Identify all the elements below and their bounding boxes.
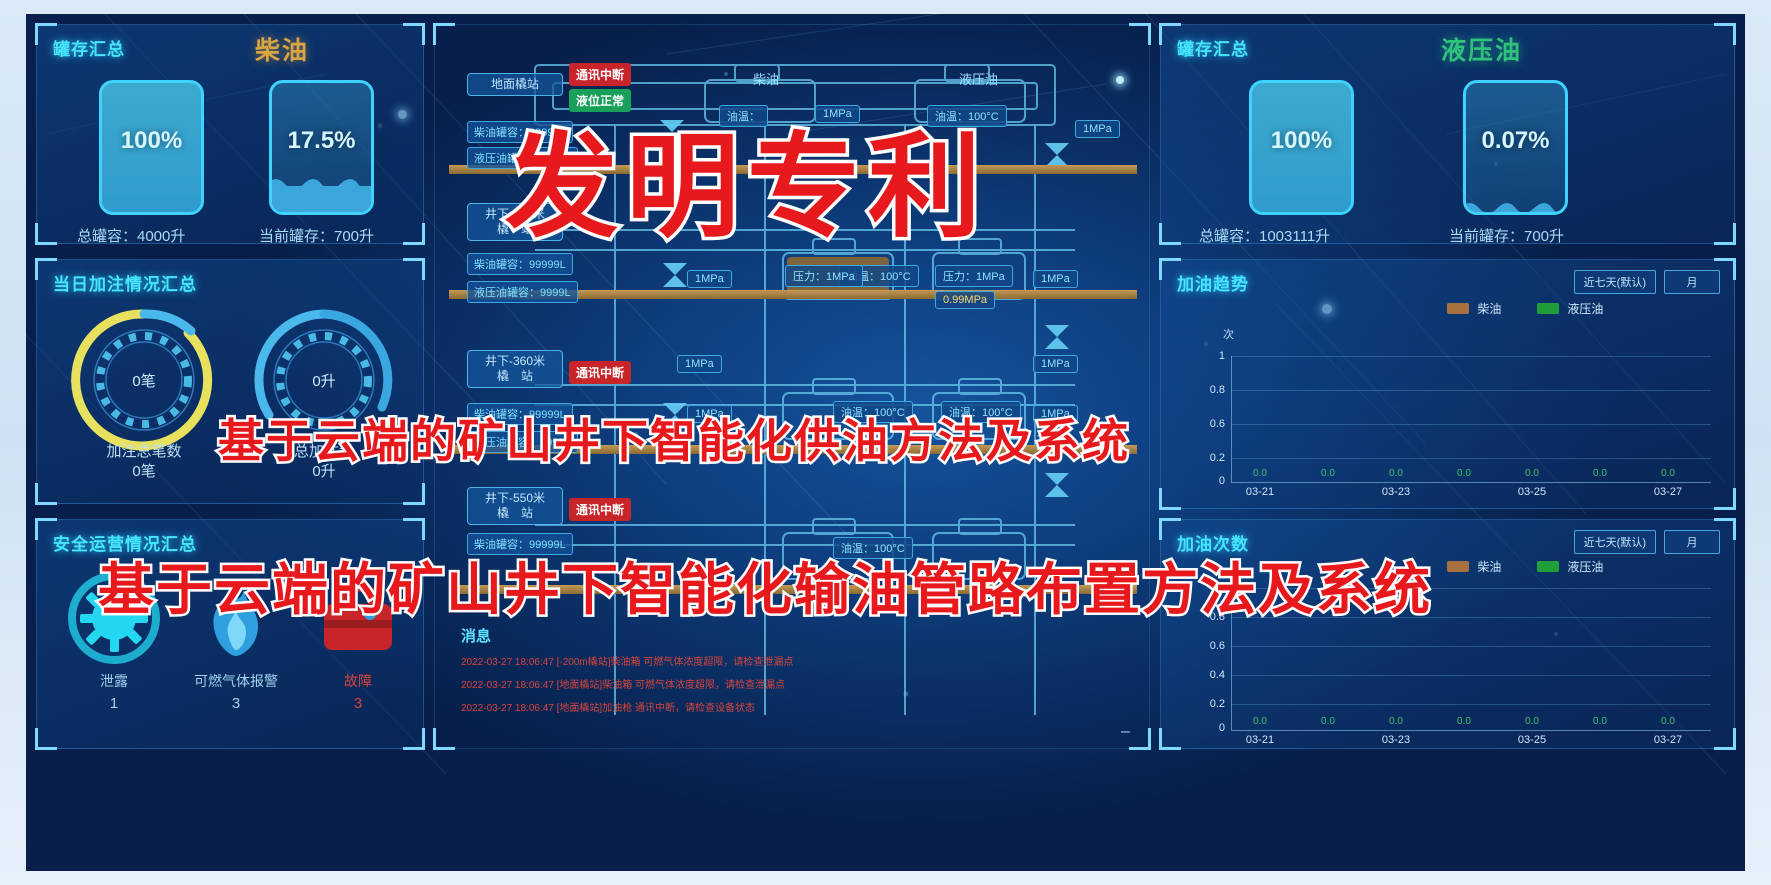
pressure-tag-5: 压力：1MPa bbox=[935, 265, 1013, 287]
y-tick: 0.4 bbox=[1199, 669, 1225, 681]
legend-diesel[interactable]: 柴油 bbox=[1447, 558, 1501, 575]
point-label: 0.0 bbox=[1313, 716, 1343, 727]
legend-diesel[interactable]: 柴油 bbox=[1447, 300, 1501, 317]
point-label: 0.0 bbox=[1449, 716, 1479, 727]
grid-line bbox=[1231, 424, 1711, 425]
tank-total-diesel: 100% bbox=[99, 80, 204, 215]
page-frame: 罐存汇总 柴油 100% 总罐容：4000升 17.5% 当前罐存：700升 当… bbox=[0, 0, 1771, 885]
panel-title: 加油趋势 bbox=[1177, 270, 1249, 295]
x-axis-line bbox=[1231, 482, 1711, 483]
corner-mark bbox=[1714, 223, 1736, 245]
grid-line bbox=[1231, 458, 1711, 459]
pressure-tag-7: 1MPa bbox=[677, 355, 722, 373]
safety-item-count: 3 bbox=[171, 695, 301, 712]
legend-label: 柴油 bbox=[1477, 560, 1501, 574]
x-tick: 03-27 bbox=[1646, 486, 1690, 498]
product-name-hydraulic: 液压油 bbox=[1441, 31, 1522, 67]
corner-mark bbox=[1714, 23, 1736, 45]
tank-current-diesel: 17.5% bbox=[269, 80, 374, 215]
point-label: 0.0 bbox=[1517, 716, 1547, 727]
range-button-month[interactable]: 月 bbox=[1664, 270, 1720, 294]
legend-swatch-diesel bbox=[1447, 303, 1469, 314]
gauge-label-title: 加注总笔数 bbox=[54, 442, 234, 462]
corner-mark bbox=[1714, 488, 1736, 510]
grid-line bbox=[1231, 675, 1711, 676]
point-label: 0.0 bbox=[1585, 468, 1615, 479]
station-name: 井下-550米 bbox=[485, 491, 545, 505]
x-tick: 03-25 bbox=[1510, 486, 1554, 498]
grid-line bbox=[1231, 390, 1711, 391]
range-button-month[interactable]: 月 bbox=[1664, 530, 1720, 554]
pressure-tag-4: 压力：1MPa bbox=[785, 265, 863, 287]
legend-label: 液压油 bbox=[1567, 560, 1603, 574]
point-label: 0.0 bbox=[1381, 468, 1411, 479]
x-tick: 03-27 bbox=[1646, 734, 1690, 746]
grid-line bbox=[1231, 646, 1711, 647]
corner-mark bbox=[403, 258, 425, 280]
corner-mark bbox=[35, 223, 57, 245]
x-tick: 03-21 bbox=[1238, 734, 1282, 746]
range-button-seven-days[interactable]: 近七天(默认) bbox=[1574, 530, 1656, 554]
tank-total-hydraulic: 100% bbox=[1249, 80, 1354, 215]
y-tick: 1 bbox=[1199, 350, 1225, 362]
label-diesel: 柴油 bbox=[747, 67, 785, 90]
label-hydraulic: 液压油 bbox=[953, 67, 1004, 90]
tank-percent: 100% bbox=[102, 127, 201, 155]
tank-percent: 100% bbox=[1252, 127, 1351, 155]
pressure-tag-099: 0.99MPa bbox=[935, 291, 995, 309]
y-tick: 0 bbox=[1199, 475, 1225, 487]
legend-hydraulic[interactable]: 液压油 bbox=[1537, 300, 1603, 317]
panel-title: 罐存汇总 bbox=[53, 35, 125, 60]
station-sub: 橇 站 bbox=[497, 369, 533, 383]
point-label: 0.0 bbox=[1381, 716, 1411, 727]
station-550m-name[interactable]: 井下-550米 橇 站 bbox=[467, 487, 563, 525]
tank-current-caption: 当前罐存：700升 bbox=[1449, 225, 1564, 246]
legend-swatch-hydraulic bbox=[1537, 303, 1559, 314]
tank-wave-icon bbox=[1463, 196, 1568, 212]
y-axis-line bbox=[1231, 356, 1232, 482]
panel-title: 当日加注情况汇总 bbox=[53, 270, 197, 295]
y-tick: 0.6 bbox=[1199, 640, 1225, 652]
station-200m-hydraulic-capacity: 液压油罐容：9999L bbox=[467, 281, 578, 303]
pressure-tag-6: 1MPa bbox=[1033, 270, 1078, 288]
corner-mark bbox=[35, 483, 57, 505]
station-360m-status: 通讯中断 bbox=[569, 361, 631, 384]
message-row: 2022-03-27 18:06:47 [地面橇站]加油枪 通讯中断，请检查设备… bbox=[461, 699, 755, 714]
x-tick: 03-23 bbox=[1374, 734, 1418, 746]
corner-mark bbox=[403, 518, 425, 540]
station-ground-comm-status: 通讯中断 bbox=[569, 63, 631, 86]
corner-mark bbox=[403, 23, 425, 45]
x-tick: 03-25 bbox=[1510, 734, 1554, 746]
corner-mark bbox=[1159, 728, 1181, 750]
x-axis-line bbox=[1231, 730, 1711, 731]
station-360m-name[interactable]: 井下-360米 橇 站 bbox=[467, 350, 563, 388]
panel-title: 罐存汇总 bbox=[1177, 35, 1249, 60]
station-name: 井下-360米 bbox=[485, 354, 545, 368]
legend-hydraulic[interactable]: 液压油 bbox=[1537, 558, 1603, 575]
y-tick: 0.2 bbox=[1199, 698, 1225, 710]
safety-item-count: 3 bbox=[293, 695, 423, 712]
legend-swatch-hydraulic bbox=[1537, 561, 1559, 572]
station-sub: 橇 站 bbox=[497, 506, 533, 520]
corner-mark bbox=[403, 483, 425, 505]
pressure-tag-8: 1MPa bbox=[1033, 355, 1078, 373]
tank-total-caption: 总罐容：1003111升 bbox=[1199, 225, 1330, 246]
point-label: 0.0 bbox=[1245, 468, 1275, 479]
watermark-line-1: 基于云端的矿山井下智能化供油方法及系统 bbox=[218, 405, 1130, 471]
x-tick: 03-21 bbox=[1238, 486, 1282, 498]
watermark-line-2: 基于云端的矿山井下智能化输油管路布置方法及系统 bbox=[98, 545, 1432, 626]
corner-mark bbox=[1714, 728, 1736, 750]
grid-line bbox=[1231, 704, 1711, 705]
point-label: 0.0 bbox=[1517, 468, 1547, 479]
safety-item-label: 泄露 bbox=[49, 671, 179, 691]
point-label: 0.0 bbox=[1585, 716, 1615, 727]
y-axis-unit-label: 次 bbox=[1223, 326, 1234, 342]
tank-wave-icon bbox=[269, 174, 374, 190]
panel-right-tank-summary: 罐存汇总 液压油 100% 总罐容：1003111升 0.07% 当前罐存：70… bbox=[1160, 24, 1735, 244]
gauge-fill-count: 0笔 bbox=[69, 305, 219, 455]
tank-current-hydraulic: 0.07% bbox=[1463, 80, 1568, 215]
safety-item-label: 可燃气体报警 bbox=[171, 671, 301, 691]
message-row: 2022-03-27 18:06:47 [-200m橇站]柴油箱 可燃气体浓度超… bbox=[461, 653, 793, 668]
panel-left-tank-summary: 罐存汇总 柴油 100% 总罐容：4000升 17.5% 当前罐存：700升 bbox=[36, 24, 424, 244]
message-row: 2022-03-27 18:06:47 [地面橇站]柴油箱 可燃气体浓度超限，请… bbox=[461, 676, 785, 691]
point-label: 0.0 bbox=[1653, 468, 1683, 479]
station-ground-name[interactable]: 地面橇站 bbox=[467, 73, 563, 96]
point-label: 0.0 bbox=[1245, 716, 1275, 727]
tank-percent: 17.5% bbox=[272, 127, 371, 155]
corner-mark bbox=[403, 728, 425, 750]
tank-percent: 0.07% bbox=[1466, 127, 1565, 155]
gauge-fill-count-label: 加注总笔数 0笔 bbox=[54, 442, 234, 483]
collapse-icon[interactable]: – bbox=[1121, 723, 1130, 741]
panel-refuel-trend-chart: 加油趋势 近七天(默认) 月 柴油 液压油 次 1 0.8 0.6 0.2 0 … bbox=[1160, 259, 1735, 509]
corner-mark bbox=[403, 223, 425, 245]
range-button-seven-days[interactable]: 近七天(默认) bbox=[1574, 270, 1656, 294]
pressure-tag-3: 1MPa bbox=[687, 270, 732, 288]
pressure-tag-2: 1MPa bbox=[1075, 120, 1120, 138]
gauge-value: 0笔 bbox=[69, 305, 219, 455]
point-label: 0.0 bbox=[1653, 716, 1683, 727]
x-tick: 03-23 bbox=[1374, 486, 1418, 498]
safety-item-label: 故障 bbox=[293, 671, 423, 691]
legend-label: 柴油 bbox=[1477, 302, 1501, 316]
y-tick: 0.6 bbox=[1199, 418, 1225, 430]
safety-item-count: 1 bbox=[49, 695, 179, 712]
tank-total-caption: 总罐容：4000升 bbox=[77, 225, 185, 246]
y-tick: 0 bbox=[1199, 722, 1225, 734]
gauge-label-value: 0笔 bbox=[54, 462, 234, 482]
watermark-patent: 发明专利 bbox=[505, 95, 989, 259]
point-label: 0.0 bbox=[1313, 468, 1343, 479]
legend-label: 液压油 bbox=[1567, 302, 1603, 316]
station-550m-status: 通讯中断 bbox=[569, 498, 631, 521]
y-tick: 0.2 bbox=[1199, 452, 1225, 464]
messages-title: 消息 bbox=[461, 625, 491, 646]
tank-current-caption: 当前罐存：700升 bbox=[259, 225, 374, 246]
corner-mark bbox=[1159, 223, 1181, 245]
y-tick: 0.8 bbox=[1199, 384, 1225, 396]
corner-mark bbox=[1159, 488, 1181, 510]
product-name-diesel: 柴油 bbox=[255, 31, 309, 67]
point-label: 0.0 bbox=[1449, 468, 1479, 479]
corner-mark bbox=[35, 728, 57, 750]
grid-line bbox=[1231, 356, 1711, 357]
legend-swatch-diesel bbox=[1447, 561, 1469, 572]
